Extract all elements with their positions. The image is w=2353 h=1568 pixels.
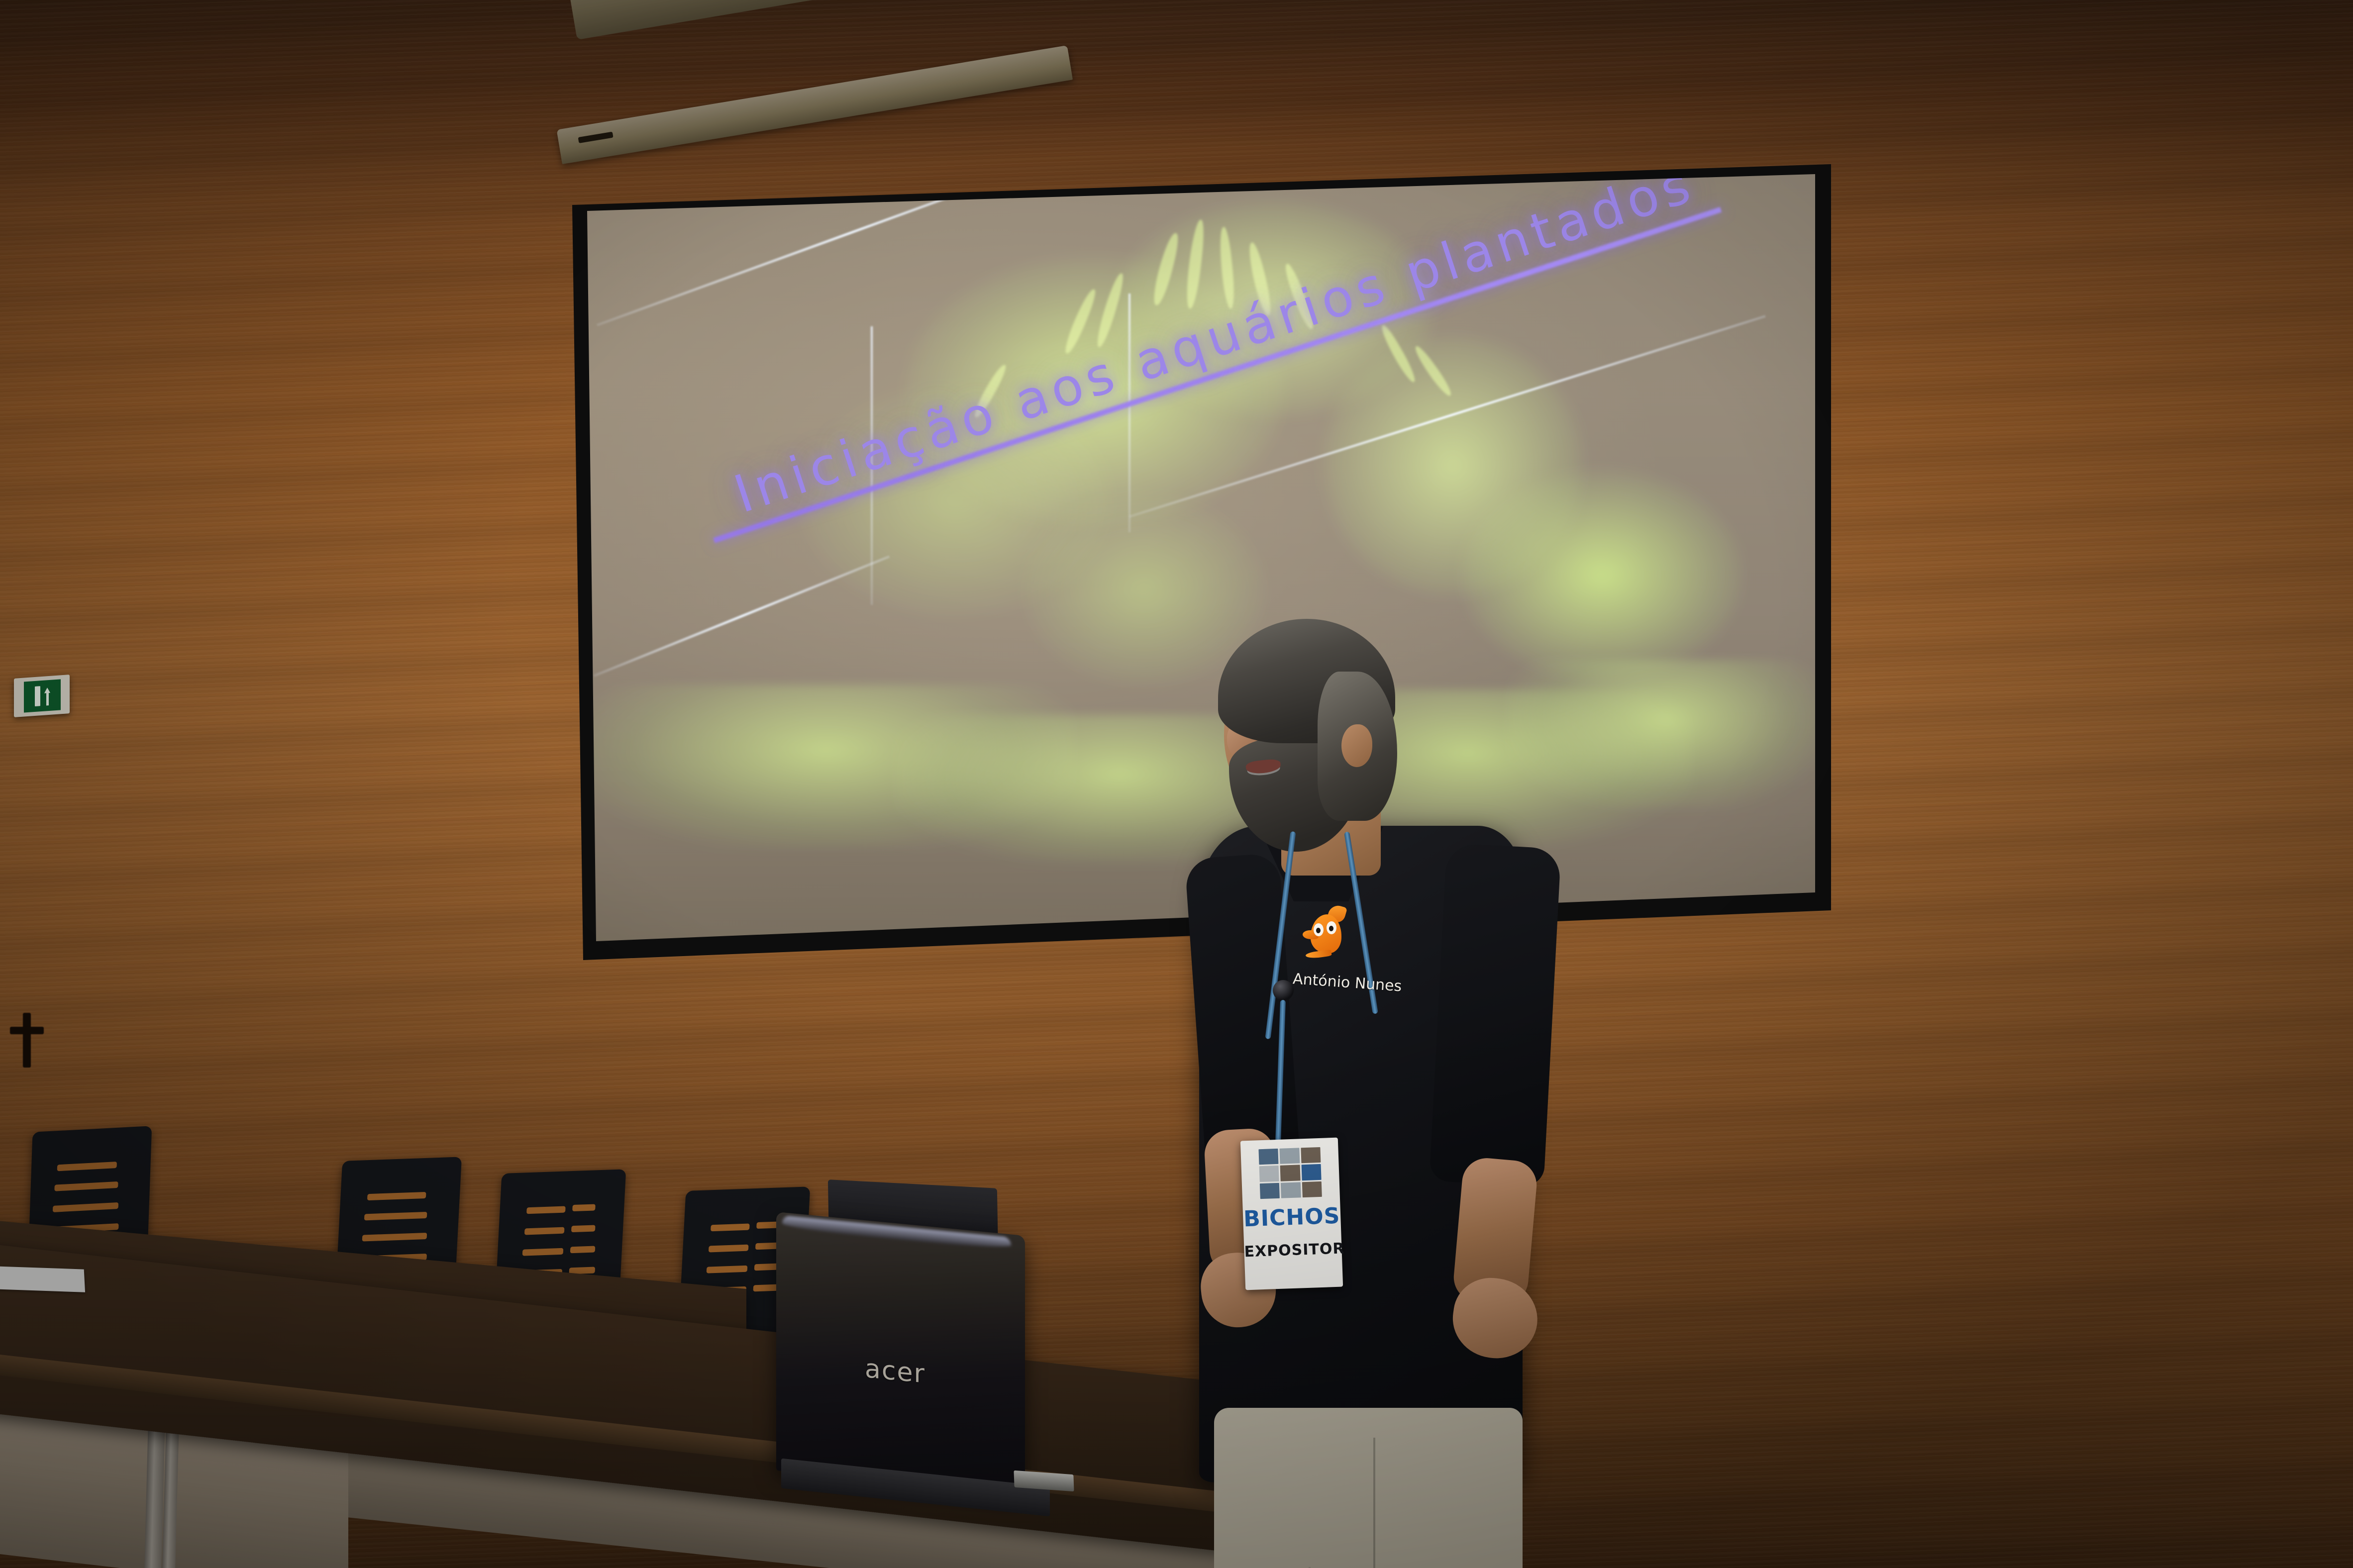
up-arrow-icon: [44, 686, 50, 706]
chair-slot: [362, 1233, 427, 1242]
crucifix-horizontal: [10, 1027, 44, 1034]
badge-photo-cell: [1302, 1181, 1322, 1198]
chair-slot: [54, 1181, 118, 1191]
exit-sign-face: [24, 679, 61, 712]
ear: [1341, 724, 1372, 767]
mascot-eye: [1314, 923, 1324, 936]
presentation-photo-scene: Iniciação aos aquários plantados: [0, 0, 2353, 1568]
badge-photo-cell: [1281, 1182, 1301, 1198]
shirt-mascot-logo: [1303, 908, 1362, 968]
chair-slot: [571, 1225, 596, 1232]
exit-door-icon: [35, 686, 40, 706]
badge-photo-cell: [1260, 1182, 1280, 1199]
chair-slot: [570, 1246, 596, 1254]
laptop-lid: acer: [776, 1212, 1025, 1494]
chair-slot: [364, 1212, 427, 1220]
badge-logo-photo-grid: [1258, 1147, 1322, 1199]
badge-photo-cell: [1258, 1149, 1278, 1165]
badge-photo-cell: [1301, 1164, 1321, 1180]
badge-photo-cell: [1280, 1148, 1300, 1164]
pants-seam: [1373, 1438, 1375, 1568]
projection-screen-surface: Iniciação aos aquários plantados: [587, 172, 1815, 963]
foreground-carpet-plants: [1508, 660, 1815, 809]
chair-slot: [709, 1245, 749, 1253]
chair-slot: [524, 1227, 565, 1235]
chair-slot: [522, 1248, 564, 1256]
chair-slot: [53, 1202, 118, 1212]
chair-slot: [57, 1162, 117, 1171]
chair-slot: [753, 1284, 780, 1292]
chair-slot: [707, 1266, 748, 1274]
badge-role-text: EXPOSITOR: [1244, 1240, 1342, 1261]
emergency-exit-sign: [14, 675, 70, 717]
lanyard-bead: [1273, 980, 1294, 1001]
chair-slot: [754, 1264, 780, 1271]
chair-slot: [572, 1204, 596, 1211]
presenter-pants: [1214, 1408, 1523, 1568]
badge-photo-cell: [1301, 1147, 1321, 1164]
chair-slot: [711, 1224, 750, 1232]
chair-slot: [367, 1192, 426, 1200]
aquatic-plant-mass: [1463, 471, 1741, 680]
housing-slot: [578, 132, 614, 143]
presenter-right-arm: [1429, 843, 1561, 1186]
badge-photo-cell: [1280, 1165, 1300, 1181]
badge-logo-text: BICHOS: [1242, 1203, 1341, 1232]
mascot-foot: [1305, 949, 1331, 959]
chair-slot: [526, 1206, 566, 1214]
acer-logo: acer: [865, 1354, 925, 1389]
aquatic-plant-mass: [1025, 495, 1264, 685]
mascot-eye: [1327, 921, 1336, 934]
crucifix-vertical: [23, 1013, 31, 1068]
event-badge[interactable]: BICHOS EXPOSITOR: [1240, 1138, 1343, 1290]
badge-photo-cell: [1259, 1166, 1279, 1182]
sheet-of-paper: [0, 1266, 85, 1292]
wall-crucifix: [9, 1013, 45, 1073]
